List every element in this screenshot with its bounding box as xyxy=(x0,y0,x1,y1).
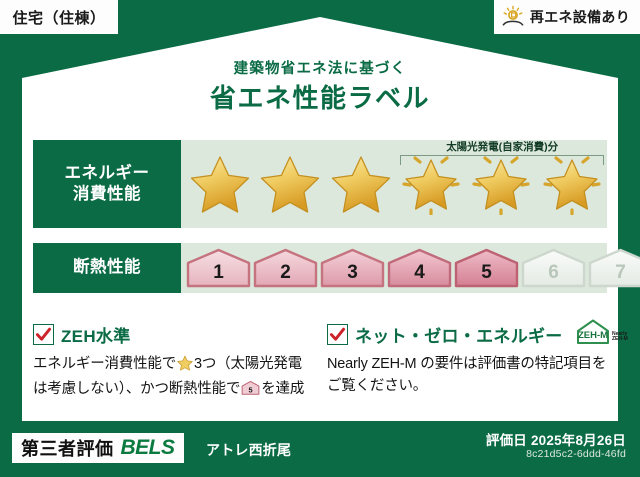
zeh-desc-part1: エネルギー消費性能で xyxy=(33,356,176,372)
house-badge: 6 xyxy=(520,248,587,288)
star-1 xyxy=(185,140,255,228)
checkbox-checked-icon xyxy=(327,324,348,345)
star-3 xyxy=(326,140,396,228)
bels-certification-badge: 第三者評価 BELS xyxy=(12,433,184,463)
house-step-number: 5 xyxy=(481,263,492,288)
house-badge: 7 xyxy=(587,248,640,288)
star-icon xyxy=(330,154,392,214)
energy-label-line1: エネルギー xyxy=(65,163,150,184)
energy-label-line2: 消費性能 xyxy=(73,184,141,205)
house-badge: 4 xyxy=(386,248,453,288)
label-subtitle: 建築物省エネ法に基づく xyxy=(0,57,640,78)
evaluation-date: 評価日 2025年8月26日 xyxy=(486,429,626,449)
zeh-standard-description: エネルギー消費性能で3つ（太陽光発電は考慮しない）、かつ断熱性能で5を達成 xyxy=(33,353,315,404)
checkbox-checked-icon xyxy=(33,324,54,345)
energy-performance-row: エネルギー 消費性能 太陽光発電(自家消費)分 xyxy=(33,140,607,228)
bels-jp-label: 第三者評価 xyxy=(21,435,114,461)
footer-bar: 第三者評価 BELS アトレ西折尾 評価日 2025年8月26日 8c21d5c… xyxy=(0,421,640,477)
house-badge: 5 xyxy=(453,248,520,288)
dwelling-type-badge: 住宅（住棟） xyxy=(0,0,118,34)
house-step-number: 4 xyxy=(414,263,425,288)
sun-icon xyxy=(500,5,526,29)
house-badge: 3 xyxy=(319,248,386,288)
dwelling-type-label: 住宅（住棟） xyxy=(12,7,105,28)
solar-bracket xyxy=(400,155,604,165)
insulation-step-scale: 1 2 xyxy=(181,243,607,293)
page-title: 省エネ性能ラベル xyxy=(0,78,640,115)
property-name: アトレ西折尾 xyxy=(206,440,291,460)
zeh-standard-block: ZEH水準 エネルギー消費性能で3つ（太陽光発電は考慮しない）、かつ断熱性能で5… xyxy=(33,322,315,404)
insulation-step-7: 7 xyxy=(587,248,640,288)
insulation-performance-row: 断熱性能 1 xyxy=(33,243,607,293)
net-zero-energy-description: Nearly ZEH-M の要件は評価書の特記項目をご覧ください。 xyxy=(327,353,609,398)
svg-text:ZEH-M: ZEH-M xyxy=(578,330,608,341)
star-2 xyxy=(255,140,325,228)
star-icon xyxy=(177,355,193,378)
house-icon: 5 xyxy=(241,380,260,403)
zeh-standard-heading: ZEH水準 xyxy=(33,322,315,346)
insulation-step-3: 3 xyxy=(319,248,386,288)
insulation-step-5: 5 xyxy=(453,248,520,288)
insulation-step-1: 1 xyxy=(185,248,252,288)
insulation-label: 断熱性能 xyxy=(73,257,141,278)
svg-text:5: 5 xyxy=(249,386,253,395)
house-icon xyxy=(587,248,640,288)
renewable-equipment-label: 再エネ設備あり xyxy=(530,7,630,27)
renewable-equipment-badge: 再エネ設備あり xyxy=(494,0,640,34)
insulation-rating-area: 1 2 xyxy=(181,243,607,293)
house-step-number: 6 xyxy=(548,263,559,288)
zeh-desc-part3: を達成 xyxy=(261,381,304,397)
star-icon xyxy=(189,154,251,214)
house-badge: 1 xyxy=(185,248,252,288)
energy-performance-label-box: エネルギー 消費性能 xyxy=(33,140,181,228)
net-zero-energy-heading: ネット・ゼロ・エネルギー ZEH-M Nearly ZEH-M xyxy=(327,322,609,346)
insulation-performance-label-box: 断熱性能 xyxy=(33,243,181,293)
house-step-number: 2 xyxy=(280,263,291,288)
energy-performance-rating-area: 太陽光発電(自家消費)分 xyxy=(181,140,607,228)
zeh-standard-title: ZEH水準 xyxy=(61,322,131,347)
insulation-step-2: 2 xyxy=(252,248,319,288)
solar-generation-bracket-group: 太陽光発電(自家消費)分 xyxy=(400,139,604,167)
house-badge: 2 xyxy=(252,248,319,288)
evaluation-id: 8c21d5c2-6ddd-46fd xyxy=(526,448,626,460)
bels-en-label: BELS xyxy=(121,436,175,460)
solar-generation-caption: 太陽光発電(自家消費)分 xyxy=(400,139,604,154)
insulation-step-4: 4 xyxy=(386,248,453,288)
house-step-number: 3 xyxy=(347,263,358,288)
net-zero-energy-title: ネット・ゼロ・エネルギー xyxy=(355,322,563,347)
net-zero-energy-block: ネット・ゼロ・エネルギー ZEH-M Nearly ZEH-M Nearly Z… xyxy=(327,322,609,398)
house-step-number: 7 xyxy=(615,263,626,288)
star-icon xyxy=(259,154,321,214)
svg-text:ZEH-M: ZEH-M xyxy=(612,336,628,342)
zeh-m-logo: ZEH-M Nearly ZEH-M xyxy=(574,317,632,352)
house-step-number: 1 xyxy=(213,263,224,288)
energy-performance-label: 住宅（住棟） 再エネ設備あり 建築物省エネ法に基づく 省エネ性能ラベル xyxy=(0,0,640,477)
insulation-step-6: 6 xyxy=(520,248,587,288)
